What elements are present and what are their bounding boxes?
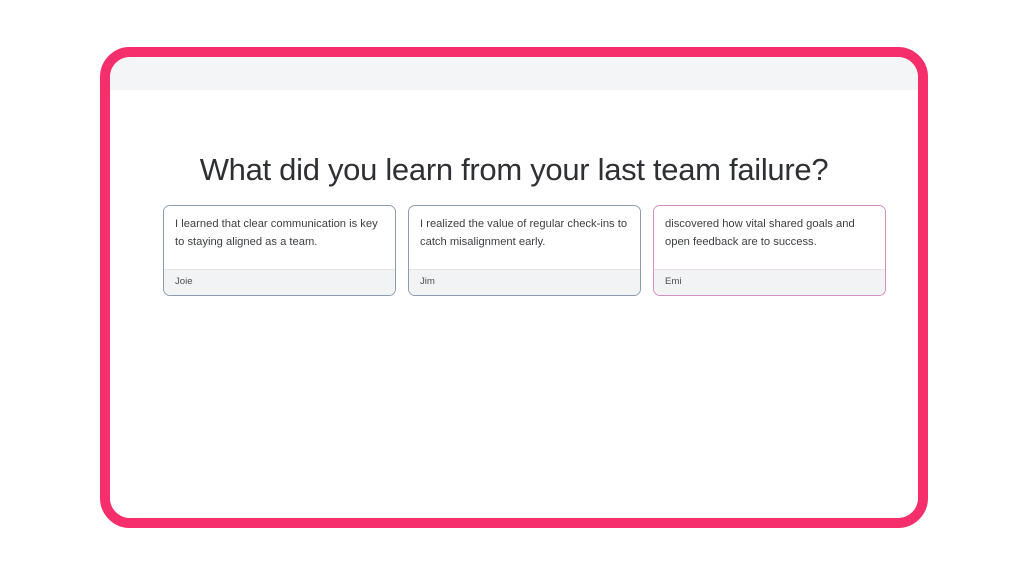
response-card[interactable]: discovered how vital shared goals and op… (653, 205, 886, 296)
response-author: Joie (164, 269, 395, 295)
response-text: discovered how vital shared goals and op… (654, 206, 885, 269)
response-text: I realized the value of regular check-in… (409, 206, 640, 269)
slide-header-bar (110, 57, 918, 90)
response-card[interactable]: I learned that clear communication is ke… (163, 205, 396, 296)
responses-list: I learned that clear communication is ke… (163, 205, 886, 296)
response-author: Emi (654, 269, 885, 295)
response-text: I learned that clear communication is ke… (164, 206, 395, 269)
response-author: Jim (409, 269, 640, 295)
slide-panel: What did you learn from your last team f… (110, 57, 918, 518)
screen: What did you learn from your last team f… (0, 0, 1024, 576)
presentation-frame: What did you learn from your last team f… (100, 47, 928, 528)
page-title: What did you learn from your last team f… (110, 151, 918, 188)
response-card[interactable]: I realized the value of regular check-in… (408, 205, 641, 296)
